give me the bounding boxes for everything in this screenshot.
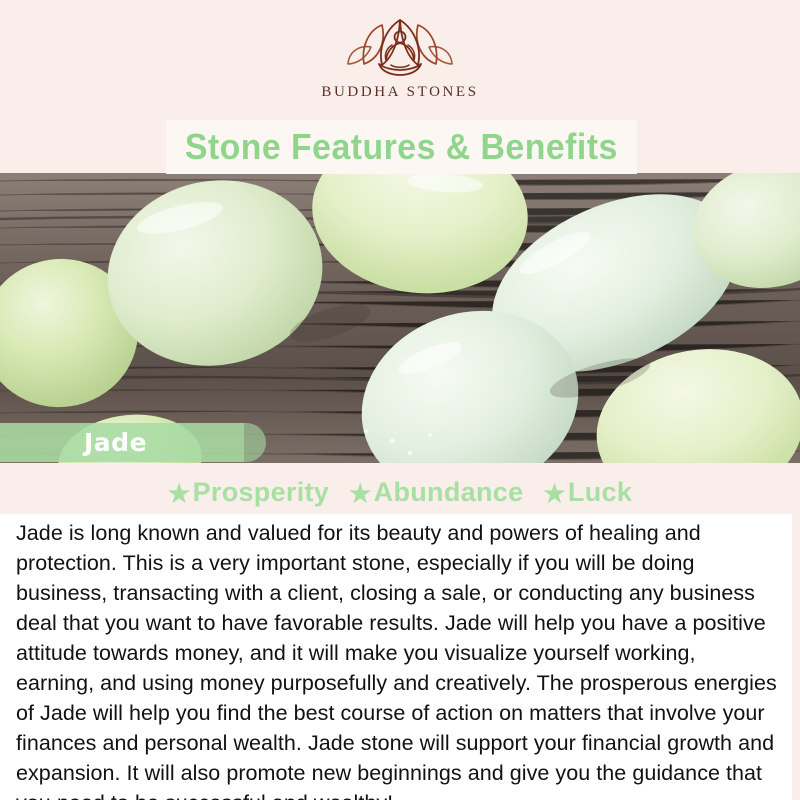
- lotus-meditation-icon: [336, 16, 464, 78]
- infographic-page: BUDDHA STONES: [0, 0, 800, 800]
- stone-name-bar: Jade: [0, 423, 244, 462]
- star-icon: ★: [349, 482, 372, 507]
- star-icon: ★: [543, 482, 566, 507]
- content-area: ★Prosperity ★Abundance ★Luck Jade is lon…: [0, 463, 800, 800]
- description-block: Jade is long known and valued for its be…: [0, 514, 792, 800]
- brand-header: BUDDHA STONES: [0, 0, 800, 120]
- page-title-banner: Stone Features & Benefits: [166, 120, 637, 174]
- stone-photo: [0, 173, 800, 463]
- keyword-prosperity-label: Prosperity: [193, 477, 330, 507]
- keyword-luck: ★Luck: [543, 477, 632, 507]
- page-title: Stone Features & Benefits: [185, 126, 618, 168]
- keyword-abundance-label: Abundance: [374, 477, 524, 507]
- keyword-abundance: ★Abundance: [349, 477, 523, 507]
- brand-name: BUDDHA STONES: [321, 84, 478, 101]
- keyword-row: ★Prosperity ★Abundance ★Luck: [0, 463, 800, 508]
- stone-name-label: Jade: [84, 428, 147, 457]
- keyword-luck-label: Luck: [568, 477, 632, 507]
- description-text: Jade is long known and valued for its be…: [0, 518, 792, 800]
- keyword-prosperity: ★Prosperity: [168, 477, 329, 507]
- star-icon: ★: [168, 482, 191, 507]
